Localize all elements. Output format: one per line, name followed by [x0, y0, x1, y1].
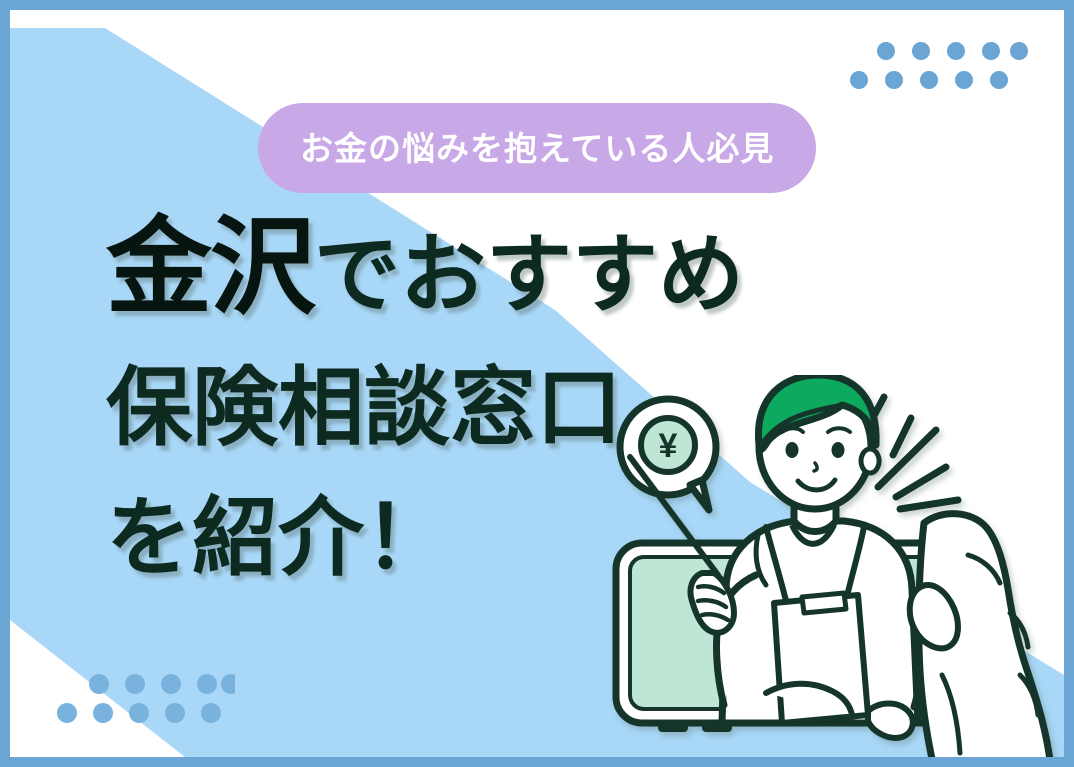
advisor-illustration: ¥	[606, 375, 1064, 757]
decorative-dots-top-right	[850, 38, 1028, 90]
banner-canvas: お金の悩みを抱えている人必見 金沢でおすすめ 保険相談窓口 を紹介！	[10, 10, 1064, 757]
decorative-dots-bottom-left	[55, 671, 235, 727]
advisor-illustration-svg: ¥	[606, 375, 1064, 757]
eyebrow-badge: お金の悩みを抱えている人必見	[258, 103, 816, 193]
eyebrow-badge-label: お金の悩みを抱えている人必見	[300, 132, 774, 165]
yen-speech-bubble-icon: ¥	[620, 399, 716, 510]
promo-banner: お金の悩みを抱えている人必見 金沢でおすすめ 保険相談窓口 を紹介！	[0, 0, 1074, 767]
headline-line-1-rest: でおすすめ	[314, 227, 744, 323]
yen-symbol: ¥	[659, 427, 678, 465]
headline-location-accent: 金沢	[106, 209, 314, 327]
headline-line-1: 金沢でおすすめ	[106, 215, 806, 321]
